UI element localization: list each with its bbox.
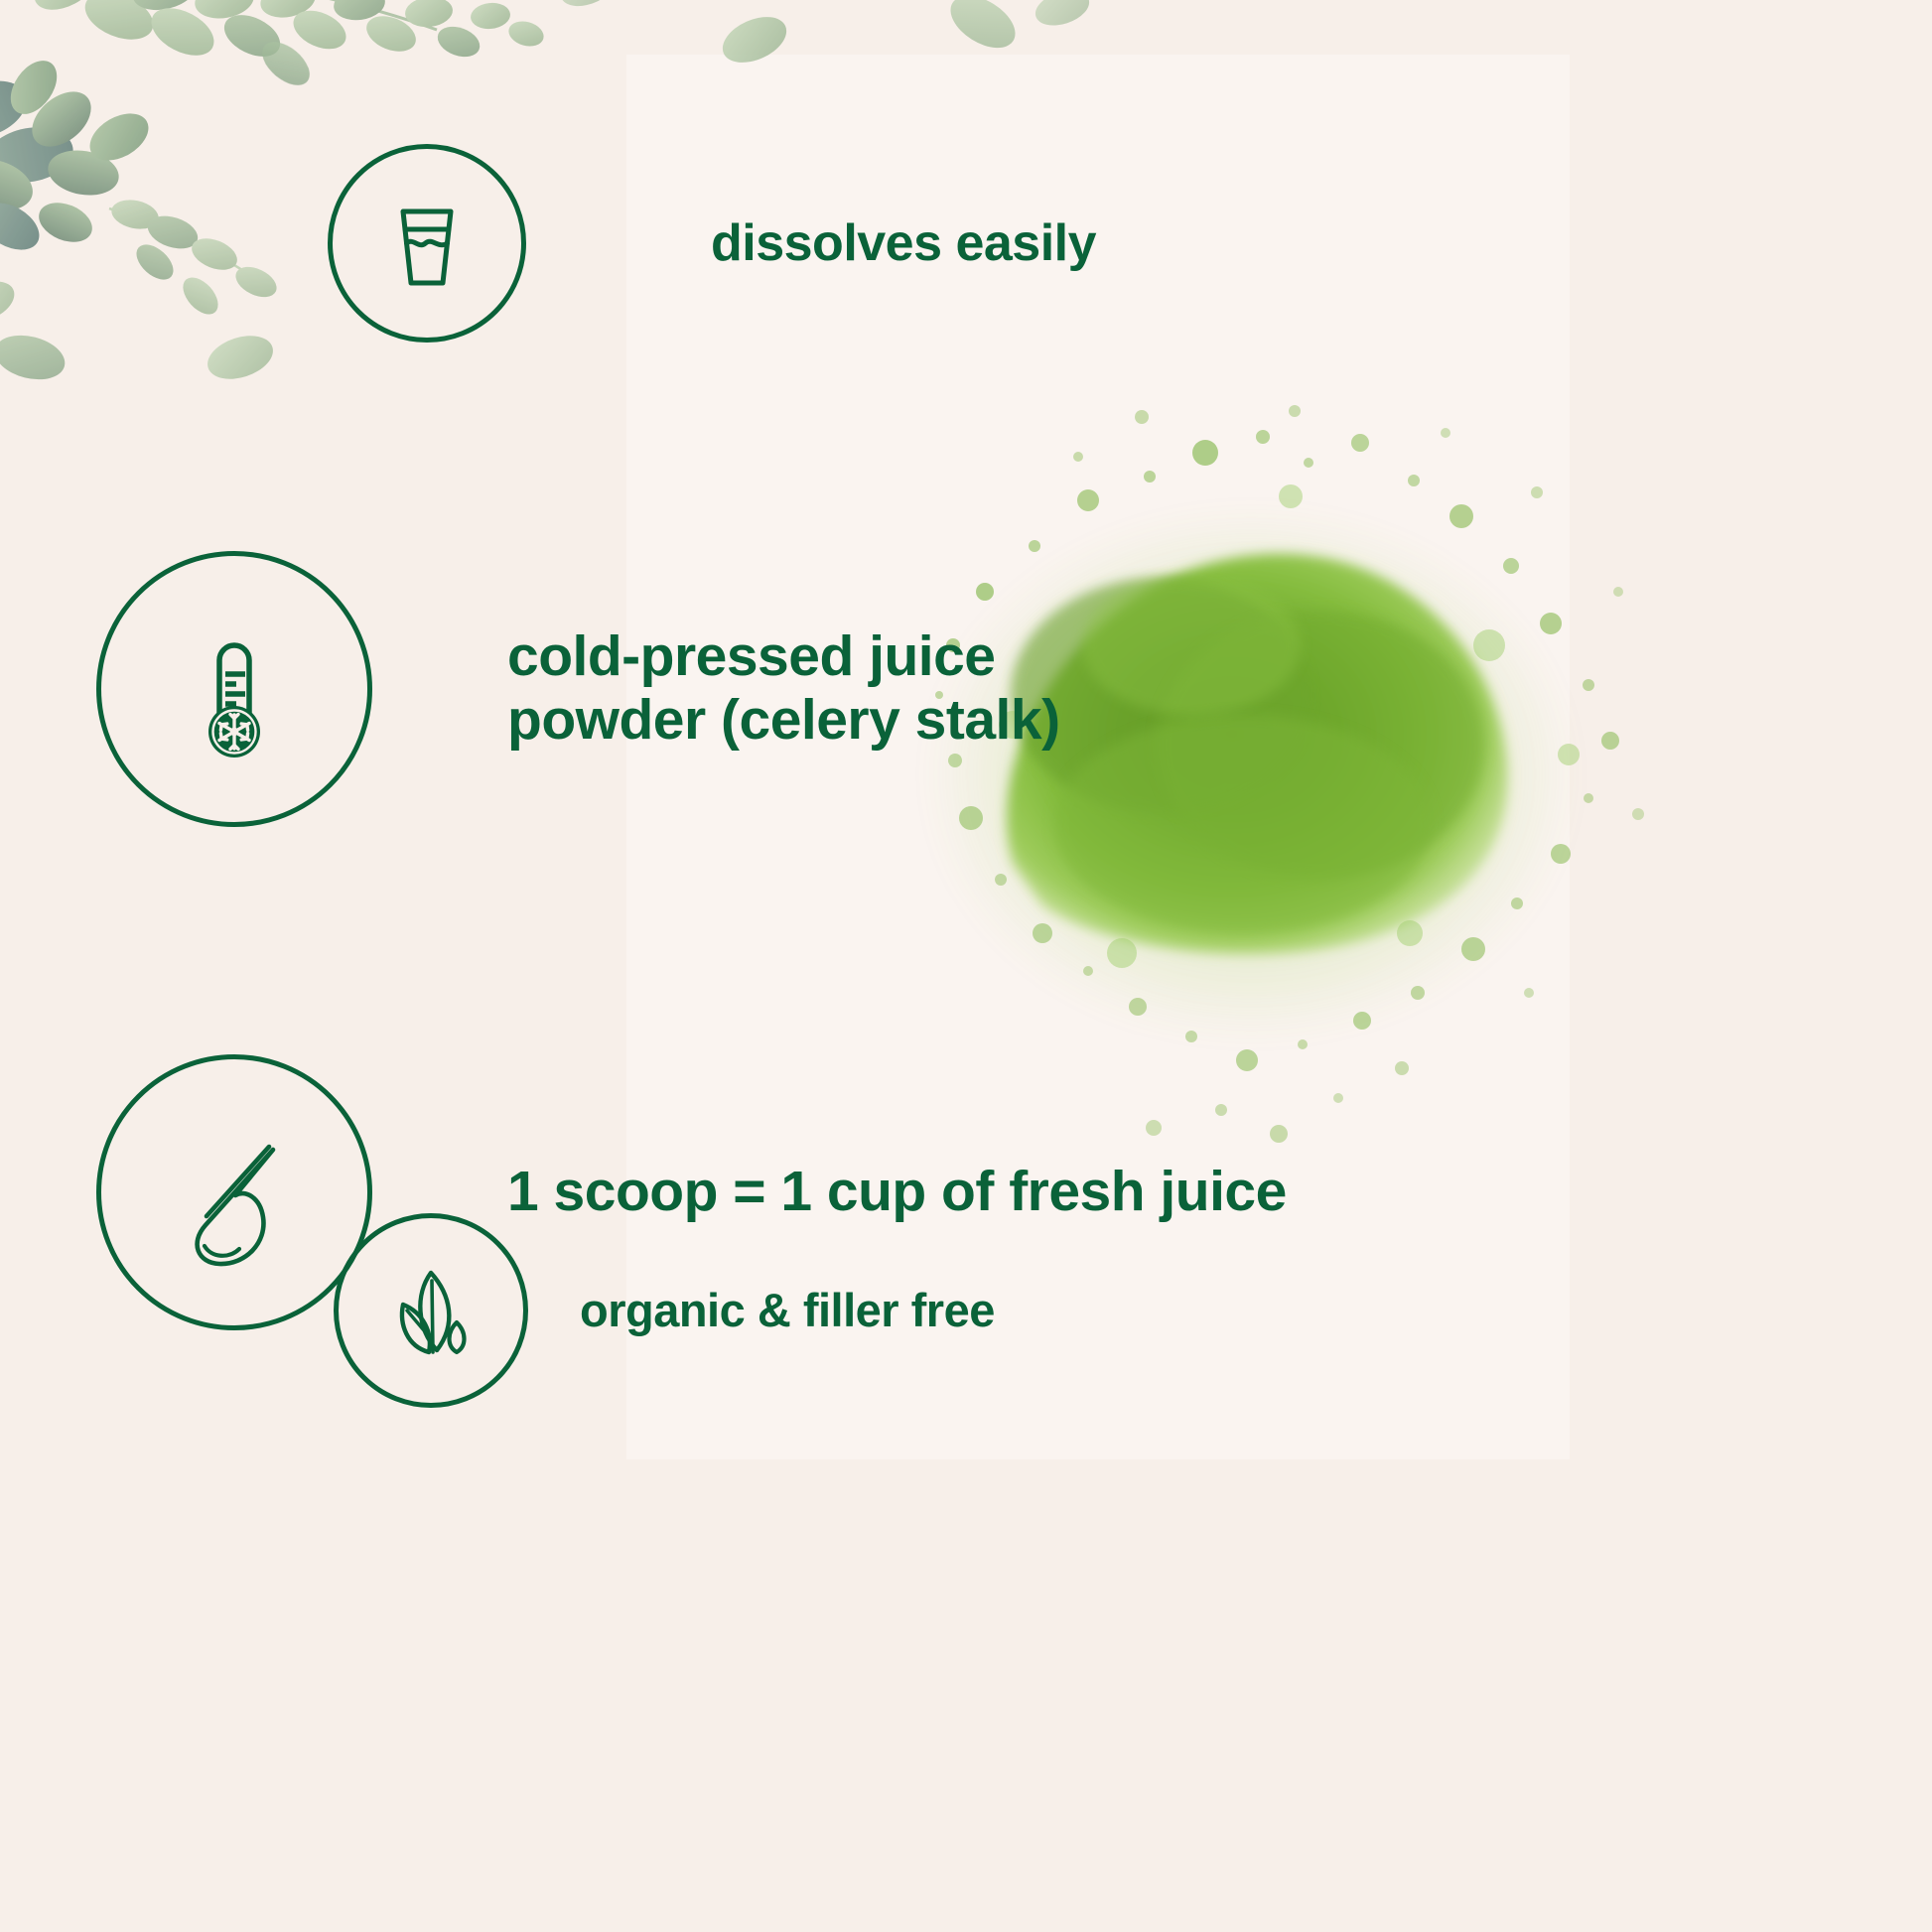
water-glass-icon (328, 144, 526, 343)
feature-label: organic & filler free (580, 1285, 995, 1337)
stray-leaves-decoration (695, 0, 1112, 119)
feature-label: dissolves easily (711, 214, 1096, 272)
feature-row-organic-filler-free: organic & filler free (334, 1213, 995, 1408)
feature-row-dissolves-easily: dissolves easily (328, 144, 1096, 343)
thermometer-snowflake-icon (96, 551, 372, 827)
product-benefits-graphic: dissolves easily (0, 0, 1932, 1932)
leaves-drop-icon (334, 1213, 528, 1408)
scoop-spoon-icon (96, 1054, 372, 1330)
feature-row-cold-pressed: cold-pressed juice powder (celery stalk) (96, 551, 1060, 827)
feature-label: cold-pressed juice powder (celery stalk) (507, 625, 1060, 753)
